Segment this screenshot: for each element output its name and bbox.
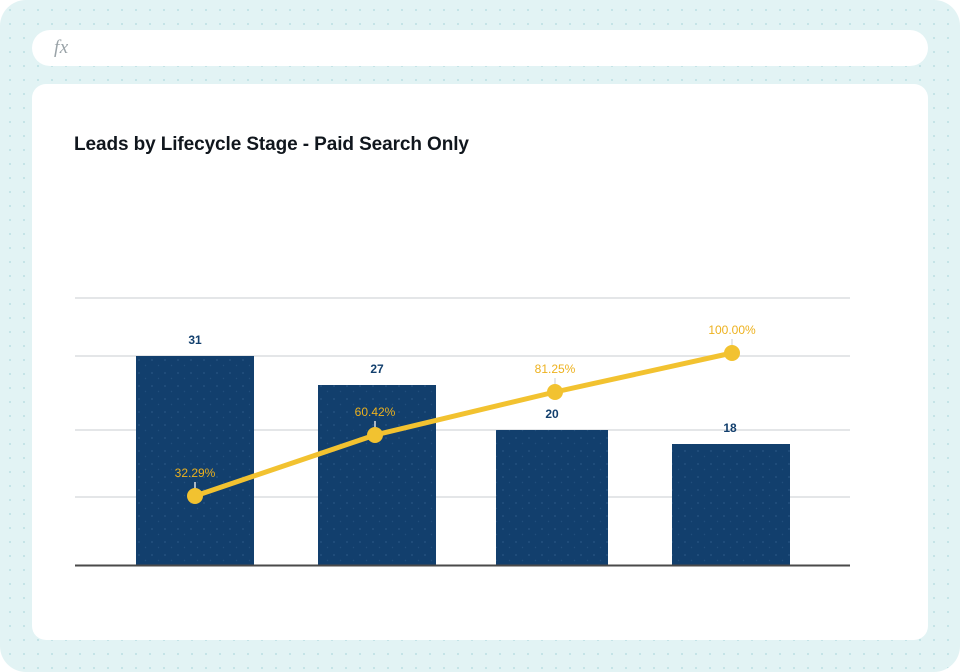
bar-4[interactable] [672,444,790,565]
bar-1[interactable] [136,356,254,565]
bar-3[interactable] [496,430,608,565]
line-point-3[interactable] [547,384,563,400]
line-label-1: 32.29% [175,466,216,480]
chart-card: Leads by Lifecycle Stage - Paid Search O… [32,84,928,640]
bar-label-1: 31 [188,333,202,347]
line-label-4: 100.00% [708,323,756,337]
bar-series [136,356,790,565]
bar-label-2: 27 [370,362,384,376]
line-point-2[interactable] [367,427,383,443]
line-point-1[interactable] [187,488,203,504]
bar-value-labels: 31 27 20 18 [188,333,737,435]
line-label-2: 60.42% [355,405,396,419]
formula-bar[interactable]: fx [32,30,928,66]
chart-svg: 31 27 20 18 32.29% 60.42% 81.25% 100.00% [32,84,928,640]
app-window: fx Leads by Lifecycle Stage - Paid Searc… [0,0,960,672]
bar-label-3: 20 [545,407,559,421]
fx-icon: fx [54,37,69,59]
chart-plot-area: 31 27 20 18 32.29% 60.42% 81.25% 100.00% [32,84,928,640]
conversion-line [195,353,732,496]
line-series [187,339,740,504]
formula-input[interactable] [69,30,928,66]
line-label-3: 81.25% [535,362,576,376]
line-point-4[interactable] [724,345,740,361]
line-value-labels: 32.29% 60.42% 81.25% 100.00% [175,323,756,480]
bar-label-4: 18 [723,421,737,435]
